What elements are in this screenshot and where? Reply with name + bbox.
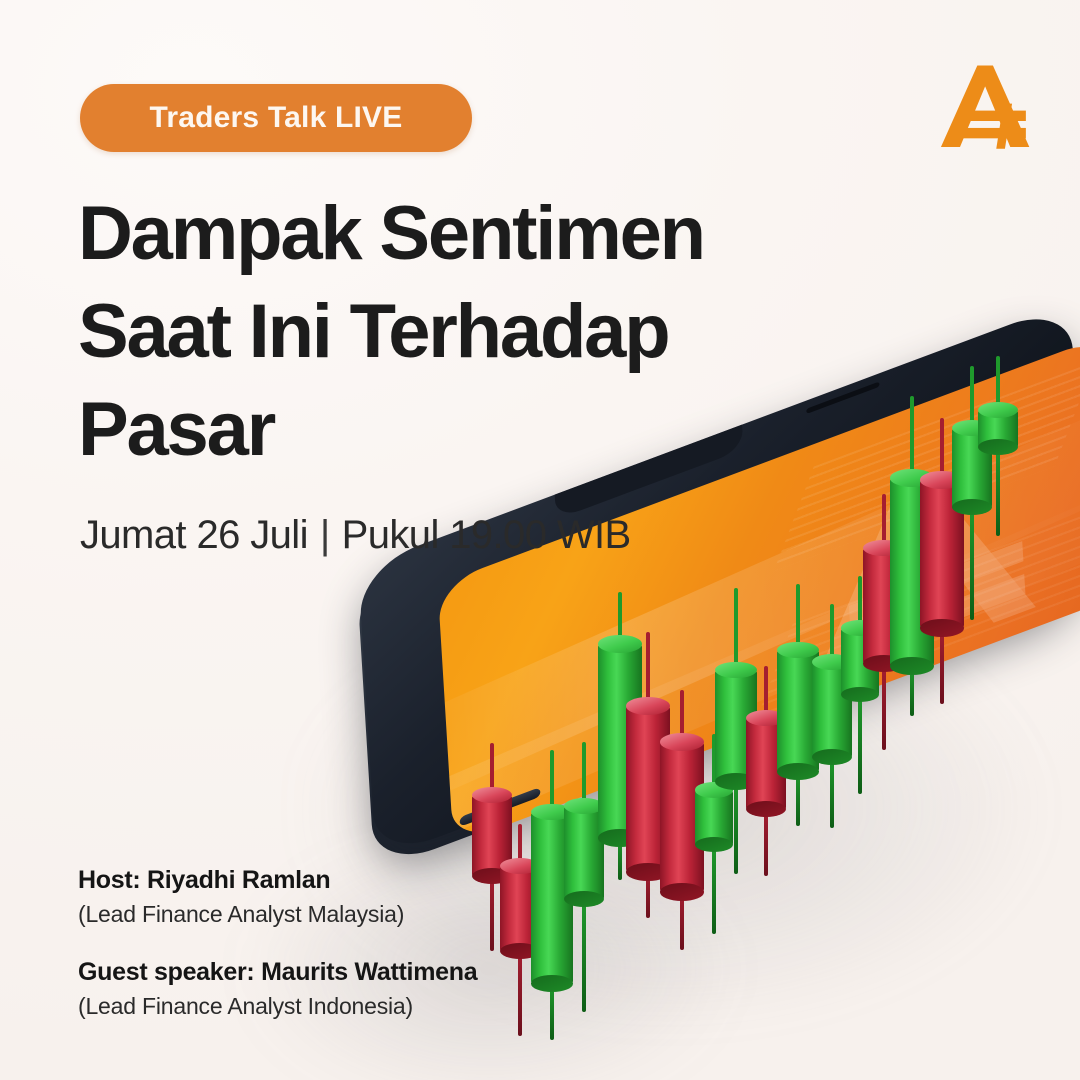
credit-host: Host: Riyadhi Ramlan (Lead Finance Analy…: [78, 866, 548, 928]
poster-content: Traders Talk LIVE Dampak Sentimen Saat I…: [0, 0, 1080, 1080]
schedule-separator: |: [320, 513, 330, 558]
promo-poster: Traders Talk LIVE Dampak Sentimen Saat I…: [0, 0, 1080, 1080]
schedule-time: Pukul 19.00 WIB: [342, 513, 631, 557]
credit-guest-name: Guest speaker: Maurits Wattimena: [78, 958, 548, 987]
credit-guest-role: (Lead Finance Analyst Indonesia): [78, 993, 548, 1020]
page-title: Dampak Sentimen Saat Ini Terhadap Pasar: [78, 196, 798, 490]
brand-logo-icon: [934, 56, 1038, 160]
title-line-1: Dampak Sentimen: [78, 196, 798, 272]
live-badge-label: Traders Talk LIVE: [150, 101, 403, 135]
live-badge: Traders Talk LIVE: [80, 84, 472, 152]
credit-host-name: Host: Riyadhi Ramlan: [78, 866, 548, 895]
credit-host-role: (Lead Finance Analyst Malaysia): [78, 901, 548, 928]
schedule-date: Jumat 26 Juli: [80, 513, 308, 557]
title-line-2: Saat Ini Terhadap: [78, 294, 798, 370]
credits-block: Host: Riyadhi Ramlan (Lead Finance Analy…: [78, 866, 548, 1050]
title-line-3: Pasar: [78, 392, 798, 468]
credit-guest: Guest speaker: Maurits Wattimena (Lead F…: [78, 958, 548, 1020]
schedule-line: Jumat 26 Juli|Pukul 19.00 WIB: [80, 513, 631, 558]
